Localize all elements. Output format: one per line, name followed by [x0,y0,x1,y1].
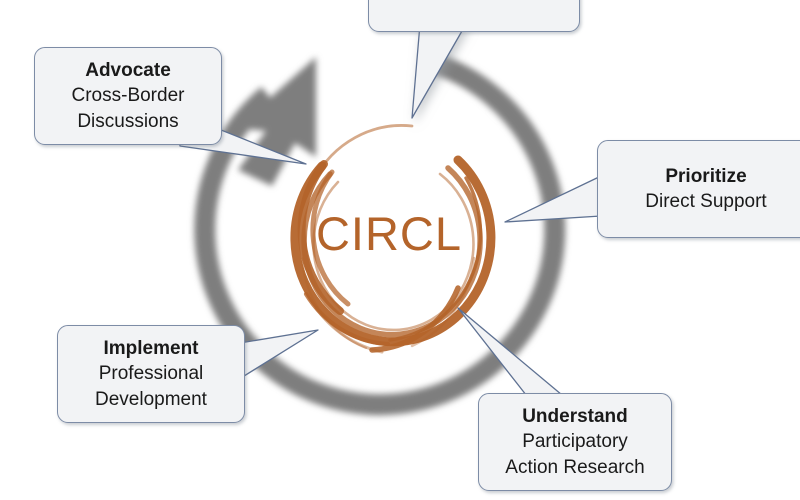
callout-understand-line-1: Participatory [522,429,628,454]
callout-peer-network[interactable]: Peer Network [368,0,580,32]
circl-framework-diagram: CIRCL Peer Network Advocate Cross-Border… [0,0,800,500]
callout-implement-line-2: Development [95,387,207,412]
callout-understand-line-2: Action Research [505,455,644,480]
callout-implement-line-1: Professional [99,361,204,386]
circl-logo: CIRCL [262,108,512,358]
callout-peer-line-1: Peer Network [416,0,531,8]
callout-advocate[interactable]: Advocate Cross-Border Discussions [34,47,222,145]
callout-advocate-line-1: Cross-Border [72,83,185,108]
callout-advocate-title: Advocate [85,58,171,83]
tail-prioritize [505,176,601,222]
callout-prioritize-title: Prioritize [665,164,746,189]
tail-peer [412,24,466,118]
callout-prioritize[interactable]: Prioritize Direct Support [597,140,800,238]
callout-prioritize-line-1: Direct Support [645,189,766,214]
logo-wordmark: CIRCL [262,108,512,358]
callout-understand[interactable]: Understand Participatory Action Research [478,393,672,491]
callout-implement-title: Implement [103,336,198,361]
callout-implement[interactable]: Implement Professional Development [57,325,245,423]
callout-understand-title: Understand [522,404,628,429]
callout-advocate-line-2: Discussions [77,109,178,134]
logo-wordmark-text: CIRCL [312,210,462,257]
